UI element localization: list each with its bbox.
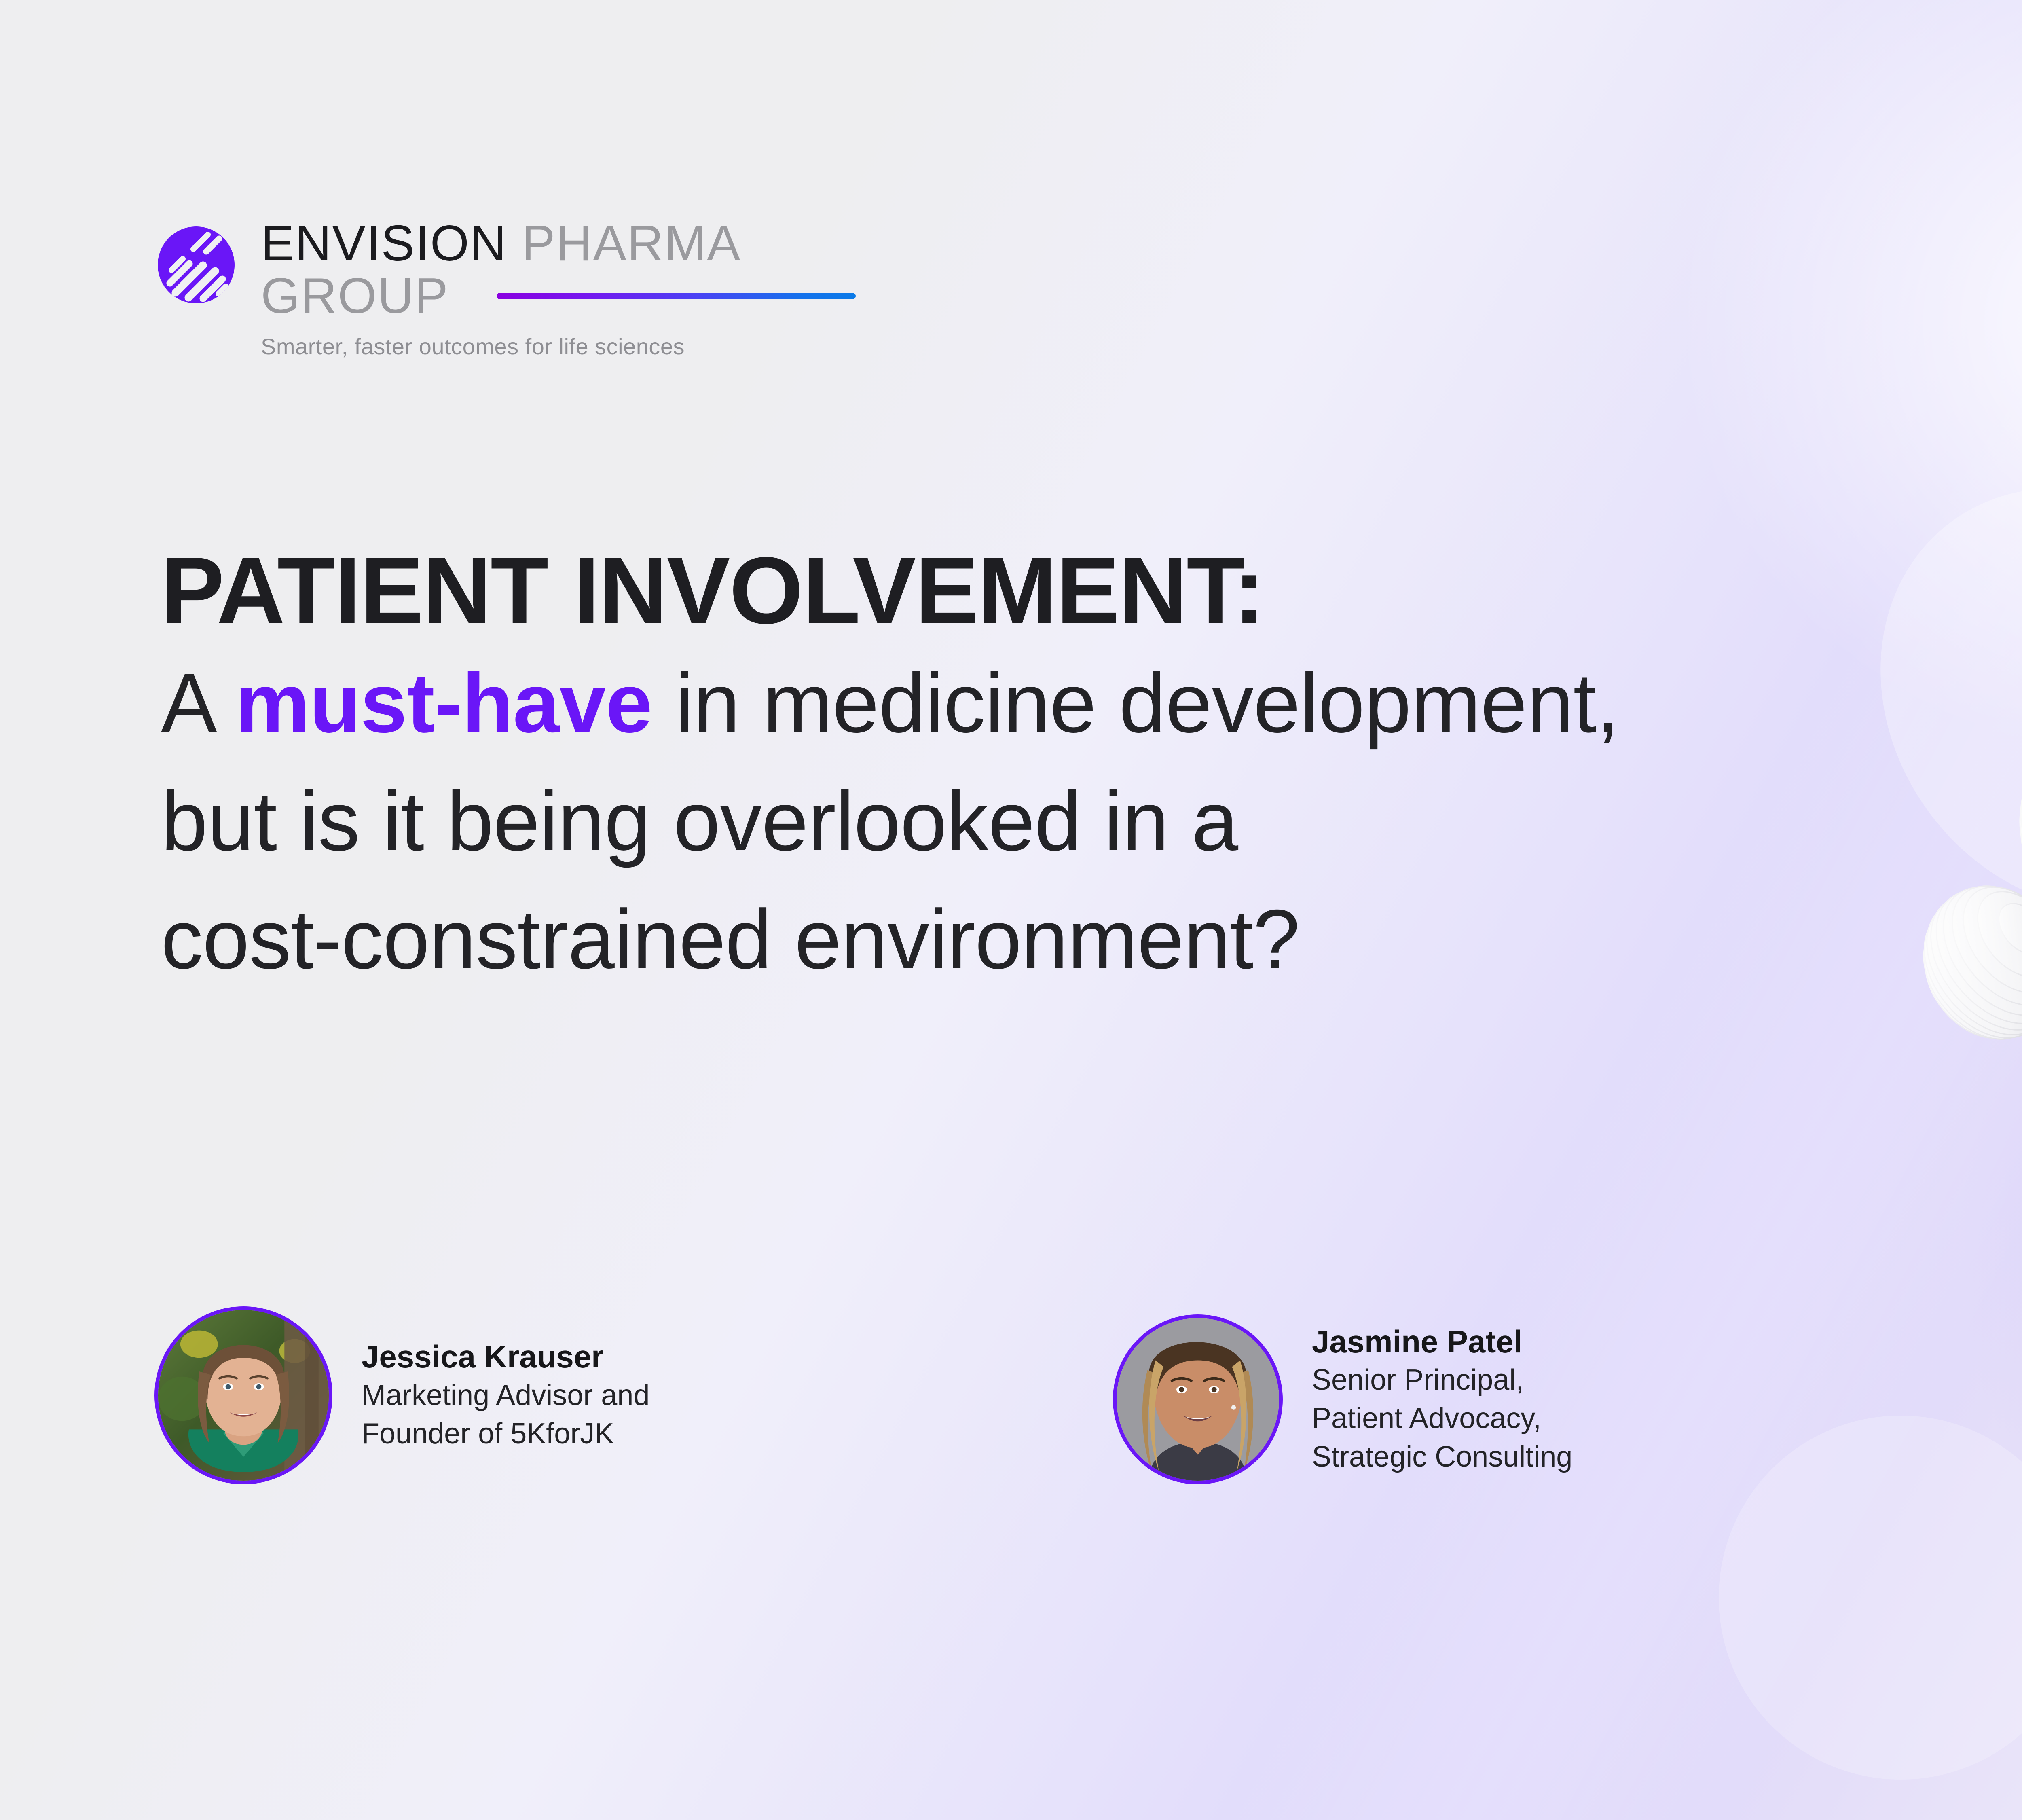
- headline-line-3: cost-constrained environment?: [161, 886, 2022, 993]
- brand-name-envision: ENVISION: [261, 216, 507, 271]
- headline-line-1: A must-have in medicine development,: [161, 650, 2022, 757]
- envision-logo-mark-icon: [158, 226, 235, 303]
- headline-accent: must-have: [235, 656, 652, 750]
- speaker-info: Jessica Krauser Marketing Advisor and Fo…: [362, 1337, 649, 1453]
- speaker-card-jasmine-patel[interactable]: Jasmine Patel Senior Principal, Patient …: [1113, 1314, 1572, 1484]
- speaker-name: Jasmine Patel: [1312, 1323, 1572, 1361]
- headline-line1-pre: A: [161, 656, 235, 750]
- brand-wordmark: ENVISION PHARMA: [261, 218, 856, 269]
- brand-gradient-rule: [497, 293, 856, 299]
- brand-name-group: GROUP: [261, 271, 449, 321]
- speaker-name: Jessica Krauser: [362, 1337, 649, 1376]
- speakers-row: Jessica Krauser Marketing Advisor and Fo…: [0, 1306, 2022, 1670]
- headline-eyebrow: PATIENT INVOLVEMENT:: [161, 542, 2022, 639]
- headline-line-2: but is it being overlooked in a: [161, 768, 2022, 875]
- avatar: [154, 1306, 332, 1484]
- speaker-role-line: Strategic Consulting: [1312, 1438, 1572, 1476]
- brand-name-pharma: [507, 216, 522, 271]
- speaker-card-jessica-krauser[interactable]: Jessica Krauser Marketing Advisor and Fo…: [154, 1306, 649, 1484]
- avatar: [1113, 1314, 1283, 1484]
- speaker-role-line: Marketing Advisor and: [362, 1376, 649, 1415]
- brand-tagline: Smarter, faster outcomes for life scienc…: [261, 333, 856, 360]
- speaker-role-line: Senior Principal,: [1312, 1361, 1572, 1399]
- speaker-role-line: Patient Advocacy,: [1312, 1399, 1572, 1438]
- speaker-info: Jasmine Patel Senior Principal, Patient …: [1312, 1323, 1572, 1476]
- headline-block: PATIENT INVOLVEMENT: A must-have in medi…: [161, 542, 2022, 993]
- headline-line1-post: in medicine development,: [652, 656, 1619, 750]
- speaker-role-line: Founder of 5KforJK: [362, 1415, 649, 1453]
